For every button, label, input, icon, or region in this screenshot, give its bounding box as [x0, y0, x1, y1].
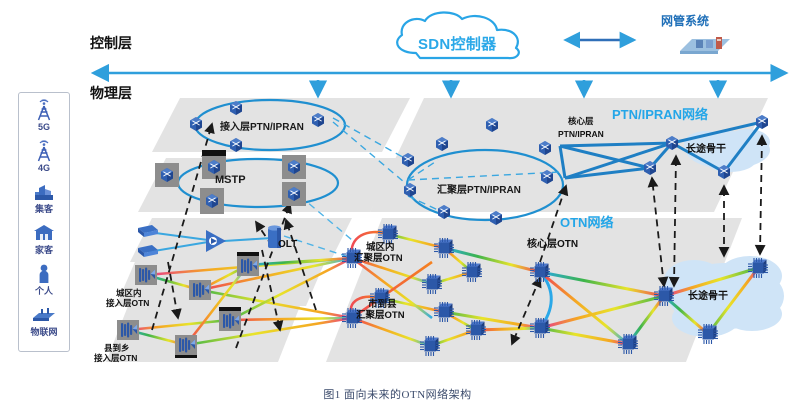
otn-access-node [219, 307, 241, 331]
ptn-aggregation-ring-label: 汇聚层PTN/IPRAN [437, 181, 521, 196]
access-type-legend: 5G 4G [18, 92, 70, 352]
iot-gateway-icon [30, 302, 58, 327]
nms-icon [676, 33, 732, 57]
legend-item-5g[interactable]: 5G [19, 97, 69, 138]
legend-label: 个人 [35, 286, 53, 296]
physical-layer-label: 物理层 [90, 83, 132, 103]
control-layer-label: 控制层 [90, 33, 132, 53]
otn-agg-city-label-line2: 汇聚层OTN [356, 311, 405, 321]
control-to-physical-arrows [318, 80, 718, 96]
otn-access-node [117, 320, 139, 340]
legend-item-individual[interactable]: 个人 [19, 261, 69, 302]
cell-tower-icon [34, 97, 54, 122]
otn-access-node [135, 265, 157, 285]
olt-label: OLT [278, 240, 297, 250]
diagram-canvas: 控制层 物理层 SDN控制器 网管系统 PTN/IPRAN网络 OTN网络 接入… [0, 0, 795, 419]
legend-item-home[interactable]: 家客 [19, 220, 69, 261]
cell-tower-icon [34, 138, 54, 163]
legend-label: 5G [38, 122, 50, 132]
otn-backbone-label: 长途骨干 [688, 292, 728, 302]
legend-label: 物联网 [30, 327, 57, 337]
mstp-node [282, 155, 306, 179]
otn-access-county-label-line2: 接入层OTN [94, 354, 137, 364]
mstp-ring-label: MSTP [215, 174, 246, 186]
otn-agg-urban-label-line2: 汇聚层OTN [354, 254, 403, 264]
ptn-backbone-label: 长途骨干 [686, 145, 726, 155]
legend-label: 4G [38, 163, 50, 173]
legend-label: 集客 [35, 204, 53, 214]
mstp-node [282, 182, 306, 206]
otn-access-urban-label-line2: 接入层OTN [106, 299, 149, 309]
ptn-core-label-line2: PTN/IPRAN [558, 130, 604, 140]
otn-access-node [175, 335, 197, 358]
ptn-core-label-line1: 核心层 [568, 117, 594, 127]
otn-core-label: 核心层OTN [527, 240, 578, 250]
otn-access-node [237, 252, 259, 276]
ptn-access-ring-label: 接入层PTN/IPRAN [220, 118, 304, 133]
person-icon [36, 261, 52, 286]
otn-access-node [189, 280, 211, 300]
mstp-node [200, 188, 224, 214]
mstp-node [155, 163, 179, 187]
otn-agg-city-label-line1: 市到县 [368, 300, 397, 310]
sdn-controller-label: SDN控制器 [418, 33, 496, 54]
ptn-network-title: PTN/IPRAN网络 [612, 104, 708, 123]
figure-caption: 图1 面向未来的OTN网络架构 [0, 386, 795, 402]
otn-agg-urban-label-line1: 城区内 [366, 243, 395, 253]
legend-label: 家客 [35, 245, 53, 255]
legend-item-4g[interactable]: 4G [19, 138, 69, 179]
legend-item-enterprise[interactable]: 集客 [19, 179, 69, 220]
nms-label: 网管系统 [661, 12, 709, 29]
otn-network-title: OTN网络 [560, 212, 613, 231]
home-icon [31, 220, 57, 245]
enterprise-building-icon [31, 179, 57, 204]
legend-item-iot[interactable]: 物联网 [19, 302, 69, 343]
